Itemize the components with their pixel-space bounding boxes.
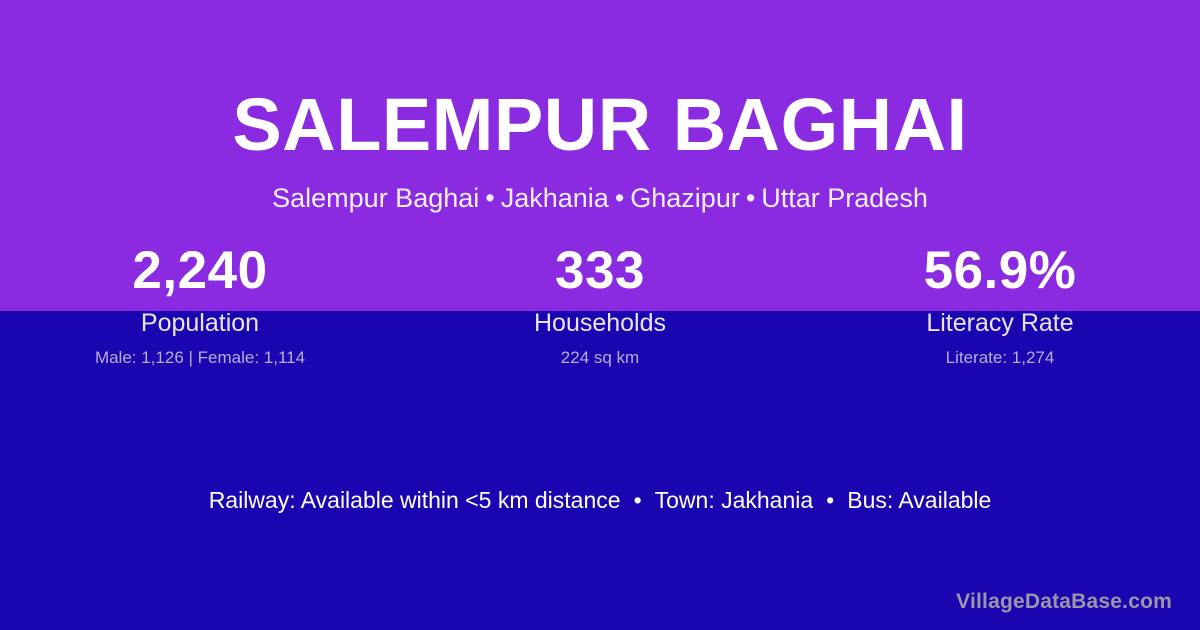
breadcrumb-part-block: Jakhania [501, 183, 609, 213]
breadcrumb-separator-3: • [740, 182, 761, 214]
transport-info-line: Railway: Available within <5 km distance… [0, 487, 1200, 515]
site-brand-watermark: VillageDataBase.com [956, 589, 1172, 614]
transport-town: Town: Jakhania [655, 487, 814, 513]
stat-households-value: 333 [400, 243, 800, 299]
breadcrumb-part-state: Uttar Pradesh [761, 183, 928, 213]
village-info-card: SALEMPUR BAGHAI Salempur Baghai•Jakhania… [0, 0, 1200, 630]
transport-separator-2: • [813, 487, 847, 515]
stat-literacy-rate-label: Literacy Rate [800, 310, 1200, 338]
transport-railway: Railway: Available within <5 km distance [209, 487, 621, 513]
breadcrumb: Salempur Baghai•Jakhania•Ghazipur•Uttar … [0, 182, 1200, 214]
stat-households-label: Households [400, 310, 800, 338]
stat-population-value: 2,240 [0, 243, 400, 299]
stat-population-label: Population [0, 310, 400, 338]
statistics-row: 2,240 Population Male: 1,126 | Female: 1… [0, 243, 1200, 368]
stat-literacy-rate-value: 56.9% [800, 243, 1200, 299]
breadcrumb-separator-2: • [609, 182, 630, 214]
stat-literacy-rate: 56.9% Literacy Rate Literate: 1,274 [800, 243, 1200, 368]
stat-population: 2,240 Population Male: 1,126 | Female: 1… [0, 243, 400, 368]
stat-households: 333 Households 224 sq km [400, 243, 800, 368]
stat-literacy-rate-detail: Literate: 1,274 [800, 349, 1200, 368]
breadcrumb-part-district: Ghazipur [630, 183, 740, 213]
breadcrumb-separator-1: • [479, 182, 500, 214]
transport-separator-1: • [621, 487, 655, 515]
breadcrumb-part-village: Salempur Baghai [272, 183, 479, 213]
stat-population-detail: Male: 1,126 | Female: 1,114 [0, 349, 400, 368]
stat-households-detail: 224 sq km [400, 349, 800, 368]
transport-bus: Bus: Available [847, 487, 991, 513]
page-title: SALEMPUR BAGHAI [0, 88, 1200, 162]
